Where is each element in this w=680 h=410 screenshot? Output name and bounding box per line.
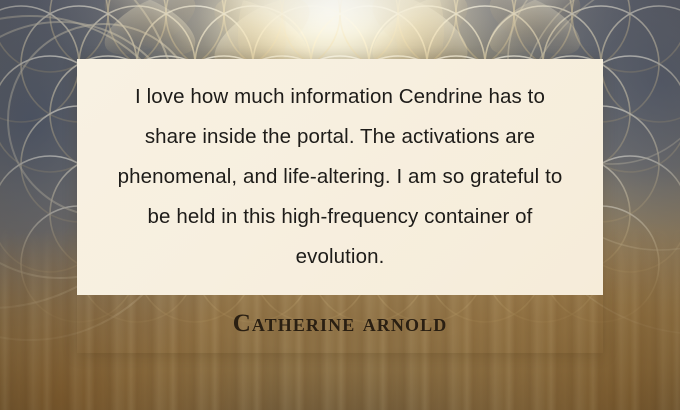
testimonial-quote: I love how much information Cendrine has… [77,77,603,277]
testimonial-author-name: Catherine Arnold [233,310,448,338]
testimonial-card-body: I love how much information Cendrine has… [77,59,603,295]
testimonial-card: I love how much information Cendrine has… [77,59,603,353]
testimonial-graphic: I love how much information Cendrine has… [0,0,680,410]
testimonial-card-footer: Catherine Arnold [77,295,603,353]
